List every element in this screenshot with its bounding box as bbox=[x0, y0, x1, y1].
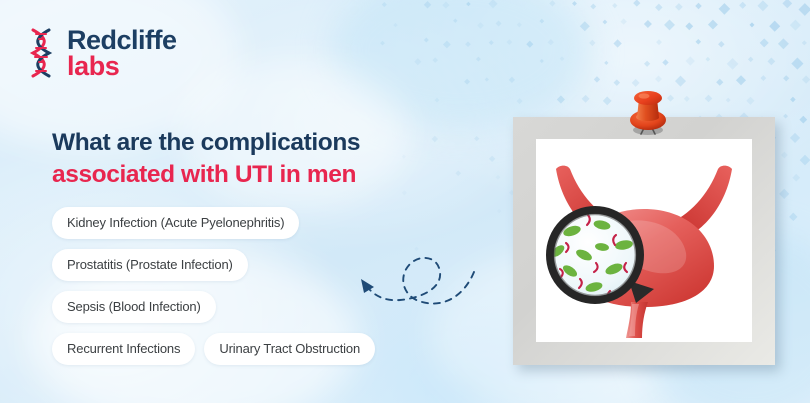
dna-helix-icon bbox=[24, 27, 58, 79]
headline-line-2: associated with UTI in men bbox=[52, 161, 452, 190]
infographic-canvas: Redcliffe labs What are the complication… bbox=[0, 0, 810, 403]
complication-row: Recurrent InfectionsUrinary Tract Obstru… bbox=[52, 333, 472, 365]
headline-line-1: What are the complications bbox=[52, 129, 452, 158]
red-pushpin-icon bbox=[615, 76, 677, 138]
page-title: What are the complications associated wi… bbox=[52, 129, 452, 190]
complication-pill[interactable]: Kidney Infection (Acute Pyelonephritis) bbox=[52, 207, 299, 239]
watercolor-blotch bbox=[330, 0, 590, 130]
complication-row: Sepsis (Blood Infection) bbox=[52, 291, 472, 323]
bladder-with-bacteria-illustration bbox=[536, 139, 752, 342]
complication-row: Prostatitis (Prostate Infection) bbox=[52, 249, 472, 281]
complication-pill[interactable]: Sepsis (Blood Infection) bbox=[52, 291, 216, 323]
brand-name-secondary: labs bbox=[67, 53, 177, 80]
complications-list: Kidney Infection (Acute Pyelonephritis)P… bbox=[52, 207, 472, 375]
brand-name-primary: Redcliffe bbox=[67, 27, 177, 54]
brand-logo[interactable]: Redcliffe labs bbox=[24, 26, 177, 80]
complication-pill[interactable]: Recurrent Infections bbox=[52, 333, 195, 365]
photo-frame bbox=[513, 117, 775, 365]
complication-row: Kidney Infection (Acute Pyelonephritis) bbox=[52, 207, 472, 239]
complication-pill[interactable]: Prostatitis (Prostate Infection) bbox=[52, 249, 248, 281]
complication-pill[interactable]: Urinary Tract Obstruction bbox=[204, 333, 375, 365]
